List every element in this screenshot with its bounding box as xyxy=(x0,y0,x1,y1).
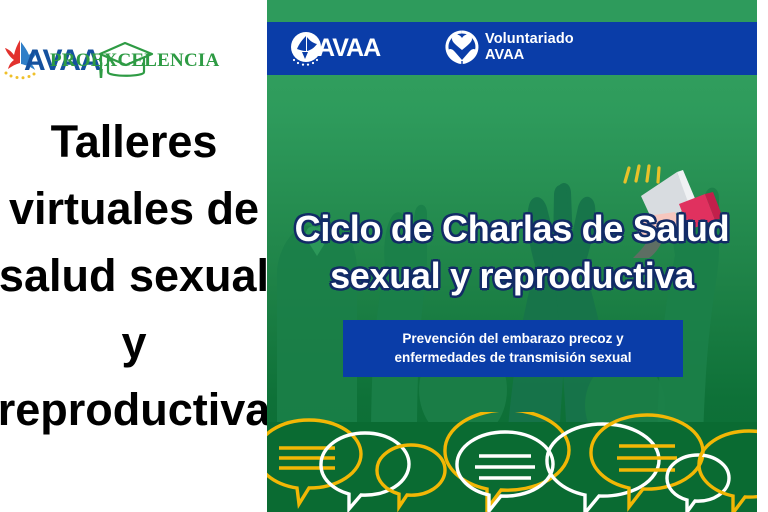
poster-subtitle-box: Prevención del embarazo precoz y enferme… xyxy=(343,320,683,377)
page-title: Talleres virtuales de salud sexual y rep… xyxy=(0,108,267,443)
proexcelencia-logo-text: PROEXCELENCIA xyxy=(50,50,219,72)
volunteer-line-1: Voluntariado xyxy=(485,31,574,47)
poster-screen: AVAA PROEXCELENCIA Talleres virtuales de… xyxy=(0,0,768,512)
left-text-panel: AVAA PROEXCELENCIA Talleres virtuales de… xyxy=(0,0,267,512)
volunteer-label: Voluntariado AVAA xyxy=(485,31,574,63)
heart-hands-icon xyxy=(443,30,481,68)
volunteer-line-2: AVAA xyxy=(485,47,574,63)
headline-line-4: y xyxy=(0,309,267,376)
poster-image: AVAA Voluntariado AVAA xyxy=(267,0,757,512)
poster-avaa-label: AVAA xyxy=(317,34,380,63)
poster-subtitle-line-2: enfermedades de transmisión sexual xyxy=(349,348,677,367)
speech-bubbles-illustration xyxy=(267,412,757,512)
headline-line-5: reproductiva xyxy=(0,376,267,443)
poster-subtitle-line-1: Prevención del embarazo precoz y xyxy=(349,329,677,348)
poster-header-bar: AVAA Voluntariado AVAA xyxy=(267,22,757,75)
poster-title: Ciclo de Charlas de Salud sexual y repro… xyxy=(267,205,757,299)
headline-line-3: salud sexual xyxy=(0,242,267,309)
poster-title-line-1: Ciclo de Charlas de Salud xyxy=(267,205,757,252)
headline-line-2: virtuales de xyxy=(0,175,267,242)
left-logo-row: AVAA PROEXCELENCIA xyxy=(0,30,267,90)
headline-line-1: Talleres xyxy=(0,108,267,175)
poster-title-line-2: sexual y reproductiva xyxy=(267,252,757,299)
poster-top-band xyxy=(267,0,757,22)
